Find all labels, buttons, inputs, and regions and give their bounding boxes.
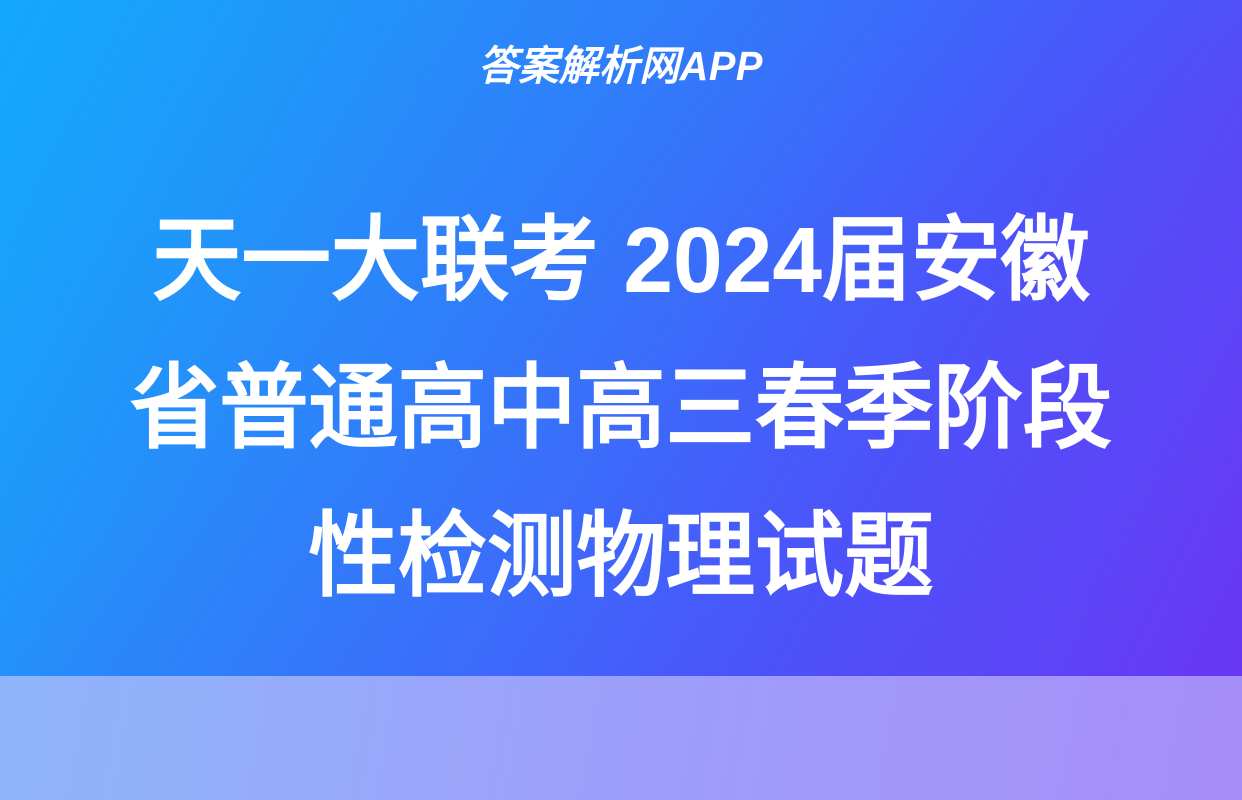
title-line-3: 性检测物理试题: [79, 482, 1164, 630]
watermark: 答案解析网APP: [0, 0, 1242, 124]
page-title: 天一大联考 2024届安徽 省普通高中高三春季阶段 性检测物理试题: [0, 186, 1242, 630]
footer-band: [0, 676, 1242, 800]
title-line-1: 天一大联考 2024届安徽: [79, 186, 1164, 334]
watermark-label: 答案解析网APP: [479, 32, 764, 92]
title-line-2: 省普通高中高三春季阶段: [79, 334, 1164, 482]
title-card: 天一大联考 2024届安徽 省普通高中高三春季阶段 性检测物理试题 答案解析网A…: [0, 0, 1242, 800]
